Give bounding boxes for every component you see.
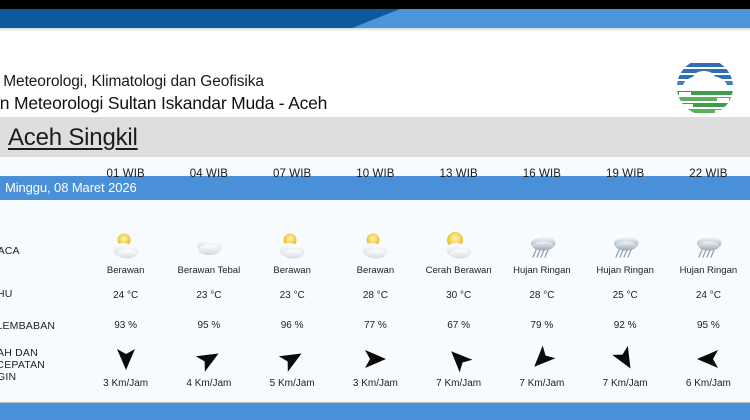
organization-line-1: an Meteorologi, Klimatologi dan Geofisik…	[0, 73, 264, 91]
column-time: 19 WIB	[584, 168, 667, 180]
sun-behind-cloud-icon	[84, 228, 167, 262]
arrow-up-right-icon	[251, 342, 334, 376]
column-humidity: 96 %	[251, 320, 334, 331]
column-wind-speed: 3 Km/Jam	[84, 378, 167, 389]
column-temperature: 25 °C	[584, 290, 667, 301]
row-label-cuaca: CUACA	[0, 245, 20, 257]
column-wind-speed: 7 Km/Jam	[584, 378, 667, 389]
column-time: 13 WIB	[417, 168, 500, 180]
column-condition: Berawan	[334, 265, 417, 276]
arrow-right-icon	[334, 342, 417, 376]
column-time: 01 WIB	[84, 168, 167, 180]
column-condition: Cerah Berawan	[417, 265, 500, 276]
forecast-column: 13 WIB Cerah Berawan 30 °C 67 % 7 Km/J	[417, 200, 500, 400]
column-condition: Berawan Tebal	[167, 265, 250, 276]
rain-cloud-icon	[500, 228, 583, 262]
column-humidity: 67 %	[417, 320, 500, 331]
bmkg-logo-circle-icon	[677, 59, 733, 115]
top-black-strip	[0, 0, 750, 9]
column-humidity: 79 %	[500, 320, 583, 331]
banner-dark-segment	[0, 9, 400, 28]
column-humidity: 93 %	[84, 320, 167, 331]
rain-cloud-icon	[584, 228, 667, 262]
column-humidity: 77 %	[334, 320, 417, 331]
column-temperature: 30 °C	[417, 290, 500, 301]
forecast-date: Minggu, 08 Maret 2026	[5, 180, 137, 195]
column-humidity: 95 %	[667, 320, 750, 331]
column-time: 22 WIB	[667, 168, 750, 180]
column-condition: Hujan Ringan	[667, 265, 750, 276]
column-condition: Berawan	[251, 265, 334, 276]
row-label-angin-line1: ARAH DAN	[0, 347, 45, 359]
row-label-angin-line2: KECEPATAN	[0, 359, 45, 371]
forecast-grid: CUACA SUHU KELEMBABAN ARAH DAN KECEPATAN…	[0, 200, 750, 400]
column-temperature: 23 °C	[251, 290, 334, 301]
rain-cloud-icon	[667, 228, 750, 262]
forecast-panel: Minggu, 08 Maret 2026 CUACA SUHU KELEMBA…	[0, 157, 750, 420]
row-label-kelembaban: KELEMBABAN	[0, 320, 55, 332]
arrow-down-icon	[84, 342, 167, 376]
column-temperature: 28 °C	[500, 290, 583, 301]
forecast-column: 01 WIB Berawan 24 °C 93 % 3 Km/Jam	[84, 200, 167, 400]
column-temperature: 24 °C	[667, 290, 750, 301]
column-wind-speed: 6 Km/Jam	[667, 378, 750, 389]
column-wind-speed: 3 Km/Jam	[334, 378, 417, 389]
sun-behind-cloud-icon	[334, 228, 417, 262]
column-humidity: 92 %	[584, 320, 667, 331]
forecast-column: 19 WIB Hujan Ringan 25 °C 92 % 7 Km/Jam	[584, 200, 667, 400]
column-humidity: 95 %	[167, 320, 250, 331]
arrow-left-icon	[667, 342, 750, 376]
row-label-angin-line3: ANGIN	[0, 371, 45, 383]
forecast-columns: 01 WIB Berawan 24 °C 93 % 3 Km/Jam	[84, 200, 750, 400]
row-label-suhu: SUHU	[0, 288, 13, 300]
arrow-up-right-icon	[167, 342, 250, 376]
arrow-down-left-icon	[500, 342, 583, 376]
forecast-row-labels: CUACA SUHU KELEMBABAN ARAH DAN KECEPATAN…	[0, 200, 84, 400]
forecast-column: 07 WIB Berawan 23 °C 96 % 5 Km/Jam	[251, 200, 334, 400]
column-time: 07 WIB	[251, 168, 334, 180]
row-label-angin: ARAH DAN KECEPATAN ANGIN	[0, 347, 45, 383]
forecast-column: 04 WIB Berawan Tebal 23 °C 95 % 4 Km/Jam	[167, 200, 250, 400]
arrow-up-left-icon	[417, 342, 500, 376]
column-temperature: 24 °C	[84, 290, 167, 301]
forecast-column: 16 WIB Hujan Ringan 28 °C 79 % 7 Km/Jam	[500, 200, 583, 400]
bottom-accent-bar	[0, 402, 750, 420]
organization-line-2: siun Meteorologi Sultan Iskandar Muda - …	[0, 93, 327, 114]
column-condition: Hujan Ringan	[500, 265, 583, 276]
page-title: Aceh Singkil	[8, 124, 138, 152]
column-wind-speed: 4 Km/Jam	[167, 378, 250, 389]
arrow-down-right-icon	[584, 342, 667, 376]
forecast-column: 22 WIB Hujan Ringan 24 °C 95 % 6 Km/Jam	[667, 200, 750, 400]
weather-forecast-page: an Meteorologi, Klimatologi dan Geofisik…	[0, 0, 750, 420]
column-wind-speed: 7 Km/Jam	[417, 378, 500, 389]
sun-behind-cloud-icon	[251, 228, 334, 262]
cloud-icon	[167, 228, 250, 262]
column-temperature: 23 °C	[167, 290, 250, 301]
top-banner	[0, 9, 750, 28]
forecast-column: 10 WIB Berawan 28 °C 77 % 3 Km/Jam	[334, 200, 417, 400]
column-time: 04 WIB	[167, 168, 250, 180]
column-condition: Hujan Ringan	[584, 265, 667, 276]
column-time: 16 WIB	[500, 168, 583, 180]
city-title-bar: Aceh Singkil	[0, 117, 750, 157]
sun-cloud-bright-icon	[417, 228, 500, 262]
column-temperature: 28 °C	[334, 290, 417, 301]
header: an Meteorologi, Klimatologi dan Geofisik…	[0, 31, 750, 117]
column-time: 10 WIB	[334, 168, 417, 180]
column-condition: Berawan	[84, 265, 167, 276]
column-wind-speed: 7 Km/Jam	[500, 378, 583, 389]
column-wind-speed: 5 Km/Jam	[251, 378, 334, 389]
